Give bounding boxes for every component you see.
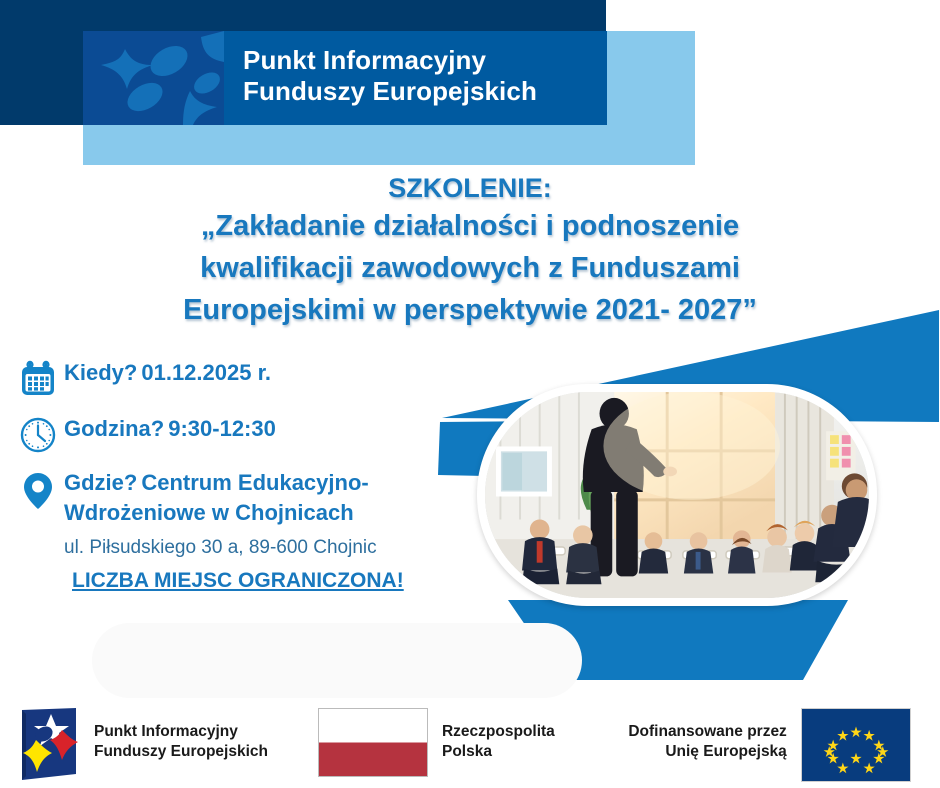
fe-logo-icon — [18, 708, 80, 787]
poster-root: Punkt Informacyjny Funduszy Europejskich — [0, 0, 940, 788]
limited-seats-notice: LICZBA MIEJSC OGRANICZONA! — [72, 567, 482, 595]
title-label: SZKOLENIE: — [60, 172, 880, 205]
event-details: Kiedy?01.12.2025 r. — [12, 358, 482, 595]
footer-fe-logo-group: Punkt Informacyjny Funduszy Europejskich — [18, 708, 268, 787]
header-logo-panel: Punkt Informacyjny Funduszy Europejskich — [83, 31, 607, 125]
title-line-2: kwalifikacji zawodowych z Funduszami — [60, 247, 880, 289]
title-line-3: Europejskimi w perspektywie 2021- 2027” — [60, 289, 880, 331]
footer-eu-label: Dofinansowane przez Unię Europejską — [597, 722, 787, 762]
detail-question-date: Kiedy? — [64, 360, 137, 385]
venue-address: ul. Piłsudskiego 30 a, 89-600 Chojnic — [64, 534, 482, 561]
detail-question-place: Gdzie? — [64, 470, 137, 495]
header-logo-title: Punkt Informacyjny Funduszy Europejskich — [243, 45, 537, 107]
detail-question-time: Godzina? — [64, 416, 164, 441]
detail-text-time: Godzina?9:30-12:30 — [64, 414, 276, 444]
detail-row-date: Kiedy?01.12.2025 r. — [12, 358, 482, 398]
fe-star-swirl-mark-icon — [83, 31, 224, 125]
title-line-1: „Zakładanie działalności i podnoszenie — [60, 205, 880, 247]
calendar-icon — [12, 358, 64, 398]
detail-text-date: Kiedy?01.12.2025 r. — [64, 358, 271, 388]
training-photo-frame — [477, 384, 877, 606]
footer-poland-label: Rzeczpospolita Polska — [442, 722, 555, 762]
detail-text-place: Gdzie?Centrum Edukacyjno-Wdrożeniowe w C… — [64, 468, 482, 528]
detail-value-time: 9:30-12:30 — [168, 416, 276, 441]
training-photo — [485, 392, 869, 598]
clock-icon — [12, 414, 64, 454]
training-title-block: SZKOLENIE: „Zakładanie działalności i po… — [60, 172, 880, 331]
poland-flag-icon — [318, 708, 428, 777]
detail-value-date: 01.12.2025 r. — [141, 360, 271, 385]
european-union-flag-icon — [801, 708, 911, 782]
footer-poland-group: Rzeczpospolita Polska — [318, 708, 555, 777]
footer-logo-bar: Punkt Informacyjny Funduszy Europejskich… — [0, 698, 940, 788]
footer-fe-label: Punkt Informacyjny Funduszy Europejskich — [94, 722, 268, 762]
detail-row-place: Gdzie?Centrum Edukacyjno-Wdrożeniowe w C… — [12, 468, 482, 528]
detail-row-time: Godzina?9:30-12:30 — [12, 414, 482, 454]
footer-eu-group: Dofinansowane przez Unię Europejską — [597, 708, 911, 782]
empty-placeholder-card — [92, 623, 582, 698]
location-pin-icon — [12, 468, 64, 512]
